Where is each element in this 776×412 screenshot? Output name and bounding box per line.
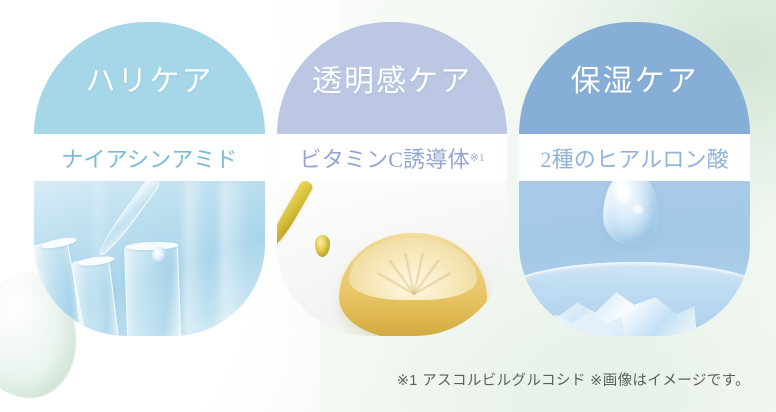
care-card-brightening[interactable]: 透明感ケア ビタミンC誘導体※1: [277, 22, 508, 336]
card-photo-water-droplet: [519, 181, 750, 336]
lemon-half-icon: [339, 233, 487, 336]
card-header-title: 保湿ケア: [571, 56, 699, 100]
card-header: 透明感ケア: [277, 22, 508, 134]
card-subtitle-text: 2種のヒアルロン酸: [540, 142, 729, 174]
test-tube-icon: [71, 257, 122, 336]
card-subtitle-footnote-marker: ※1: [470, 151, 485, 164]
card-subtitle: 2種のヒアルロン酸: [519, 134, 750, 181]
pipette-droplet-icon: [152, 247, 167, 264]
card-header-title: ハリケア: [85, 56, 213, 100]
card-subtitle-text: ビタミンC誘導体: [300, 142, 470, 174]
care-card-firmness[interactable]: ハリケア ナイアシンアミド: [34, 22, 265, 336]
droplet-highlight: [615, 181, 631, 203]
footnote-text: ※1 アスコルビルグルコシド ※画像はイメージです。: [397, 369, 750, 390]
card-header: ハリケア: [34, 22, 265, 134]
photo-streak: [220, 181, 250, 336]
card-photo-test-tubes: [34, 181, 265, 336]
photo-streak: [184, 181, 206, 336]
care-card-moisture[interactable]: 保湿ケア 2種のヒアルロン酸: [519, 22, 750, 336]
card-header-title: 透明感ケア: [312, 56, 472, 100]
card-subtitle: ビタミンC誘導体※1: [277, 134, 508, 181]
card-subtitle: ナイアシンアミド: [34, 134, 265, 181]
lemon-segment: [413, 272, 450, 294]
water-droplet-icon: [603, 181, 659, 245]
lemon-flesh: [349, 238, 477, 300]
droplet-highlight: [633, 205, 643, 214]
dropper-icon: [277, 181, 314, 250]
card-subtitle-text: ナイアシンアミド: [61, 142, 237, 174]
care-card-list: ハリケア ナイアシンアミド 透明感ケア: [34, 22, 750, 336]
promo-banner: ハリケア ナイアシンアミド 透明感ケア: [0, 0, 776, 412]
card-photo-lemon: [277, 181, 508, 336]
card-header: 保湿ケア: [519, 22, 750, 134]
dropper-droplet-icon: [315, 235, 330, 257]
